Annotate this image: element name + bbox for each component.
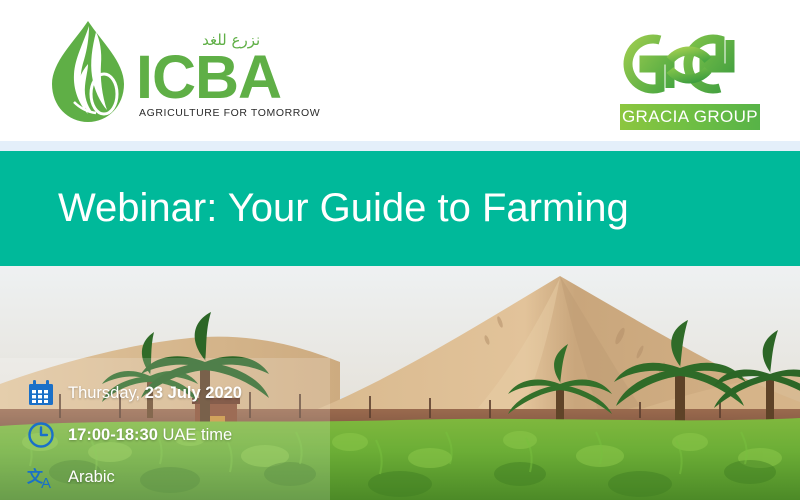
webinar-poster: نزرع للغد ICBA AGRICULTURE FOR TOMORROW: [0, 0, 800, 500]
clock-icon: [26, 420, 56, 450]
date-day: Thursday,: [68, 384, 145, 402]
header-bar: نزرع للغد ICBA AGRICULTURE FOR TOMORROW: [0, 0, 800, 141]
webinar-title: Webinar: Your Guide to Farming: [58, 186, 629, 231]
icba-wordmark: نزرع للغد ICBA AGRICULTURE FOR TOMORROW: [136, 18, 320, 119]
icba-logo: نزرع للغد ICBA AGRICULTURE FOR TOMORROW: [44, 18, 320, 128]
water-droplet-leaf-icon: [44, 18, 132, 128]
date-value: 23 July 2020: [145, 384, 242, 402]
webinar-details-panel: Thursday, 23 July 2020 17:00-18:30 UAE t…: [0, 358, 330, 500]
time-zone: UAE time: [158, 426, 232, 444]
info-row-time: 17:00-18:30 UAE time: [26, 414, 330, 456]
calendar-icon: [26, 378, 56, 408]
gracia-name: GRACIA GROUP: [622, 107, 758, 127]
info-row-date: Thursday, 23 July 2020: [26, 372, 330, 414]
translate-icon: 文 A: [26, 462, 56, 492]
gracia-logo: GRACIA GROUP: [614, 26, 766, 134]
title-banner: Webinar: Your Guide to Farming: [0, 151, 800, 266]
icba-name: ICBA: [136, 48, 320, 106]
info-row-language: 文 A Arabic: [26, 456, 330, 498]
date-text: Thursday, 23 July 2020: [68, 384, 242, 403]
time-value: 17:00-18:30: [68, 426, 158, 444]
double-g-infinity-icon: [614, 26, 766, 104]
icba-tagline: AGRICULTURE FOR TOMORROW: [139, 107, 320, 119]
gracia-name-bar: GRACIA GROUP: [620, 104, 760, 130]
language-value: Arabic: [68, 468, 115, 486]
accent-strip: [0, 141, 800, 151]
language-text: Arabic: [68, 468, 115, 487]
time-text: 17:00-18:30 UAE time: [68, 426, 232, 445]
svg-text:A: A: [41, 475, 51, 492]
